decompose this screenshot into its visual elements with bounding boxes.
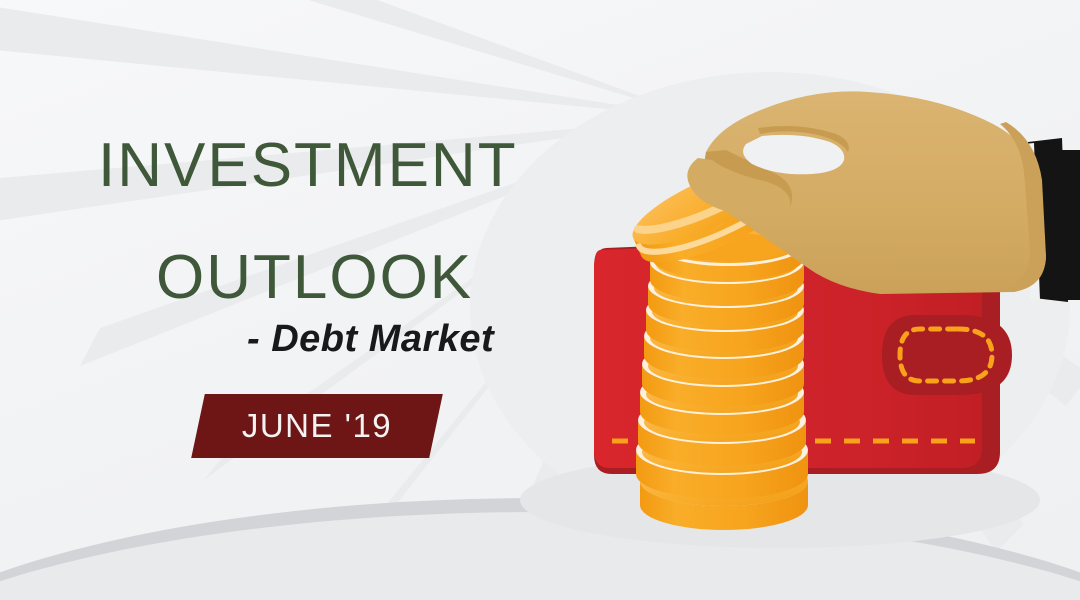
text-block: INVESTMENT OUTLOOK - Debt Market JUNE '1… — [0, 0, 560, 600]
subtitle: - Debt Market — [247, 318, 494, 361]
coin-stack — [636, 222, 808, 530]
investment-outlook-banner: INVESTMENT OUTLOOK - Debt Market JUNE '1… — [0, 0, 1080, 600]
date-badge — [191, 394, 443, 458]
page-title-line-1: INVESTMENT — [98, 130, 518, 201]
page-title-line-2: OUTLOOK — [156, 242, 473, 313]
